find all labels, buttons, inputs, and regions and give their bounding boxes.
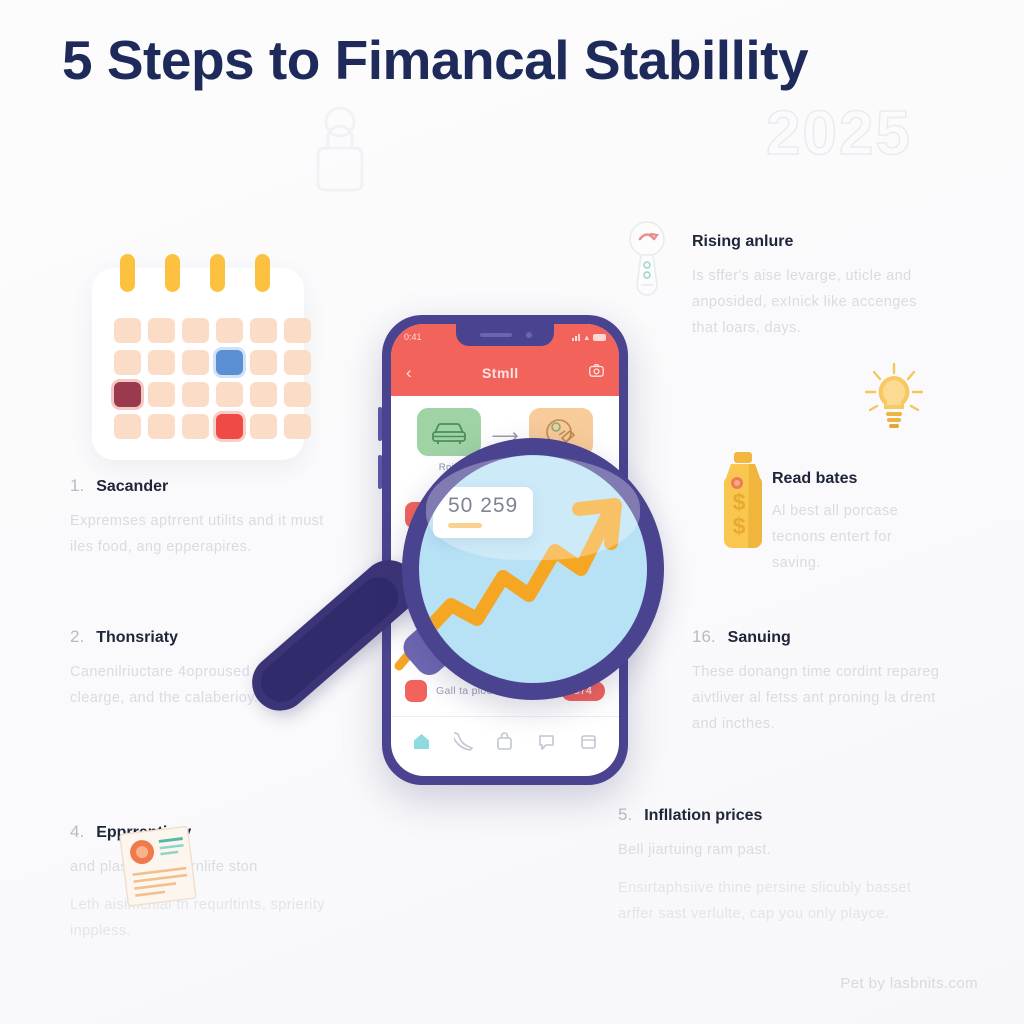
- calendar-cell: [250, 350, 277, 375]
- calendar-cell: [114, 350, 141, 375]
- calendar-cell-highlight: [216, 414, 243, 439]
- step-title: Sacander: [96, 478, 168, 496]
- battery-icon: [593, 334, 606, 341]
- calendar-cell: [114, 414, 141, 439]
- home-icon[interactable]: [412, 732, 431, 751]
- step-body: Canenilriuctare 4oproused alsou lie clea…: [70, 659, 330, 711]
- app-bar-title: Stmll: [482, 365, 519, 381]
- phone-icon[interactable]: [454, 732, 473, 751]
- rising-rate-icon: [626, 219, 668, 303]
- calendar-icon[interactable]: [579, 732, 598, 751]
- step-body: Al best all porcase tecnons entert for s…: [772, 498, 942, 576]
- calendar-cell: [216, 382, 243, 407]
- list-row-label: Gall ta ploo: [436, 685, 493, 697]
- calendar-cell: [148, 414, 175, 439]
- step-title: Read bates: [772, 470, 857, 488]
- calendar-cell: [148, 318, 175, 343]
- step-item-rising: Rising anlure Is sffer's aise levarge, u…: [692, 233, 940, 341]
- lock-watermark-icon: [300, 100, 380, 210]
- value-row: 9 50 259: [391, 494, 619, 536]
- tile-roid[interactable]: Roid: [417, 408, 481, 473]
- calendar-grid: [114, 318, 311, 439]
- value-amount: 50 259: [453, 501, 508, 519]
- calendar-cell: [148, 350, 175, 375]
- step-number: 4.: [70, 822, 84, 842]
- year-watermark: 2025: [766, 98, 912, 169]
- calendar-cell: [284, 382, 311, 407]
- step-body: These donangn time cordint repareg aivtl…: [692, 659, 944, 737]
- bag-icon[interactable]: [495, 732, 514, 751]
- speaker-icon: [480, 333, 512, 337]
- lightbulb-icon: [862, 362, 926, 434]
- wifi-icon: ▴: [584, 332, 589, 343]
- camera-icon[interactable]: [589, 364, 604, 382]
- step-item-5: 5. Infllation prices Bell jiartuing ram …: [618, 805, 948, 927]
- money-jar-icon: $ $: [715, 452, 771, 552]
- step-title: Infllation prices: [644, 807, 762, 825]
- bottom-nav: [391, 716, 619, 766]
- phone-screen: 0:41 ▴ ‹ Stmll: [391, 324, 619, 776]
- tile-label: Pfosh: [547, 462, 573, 473]
- calendar-cell: [284, 350, 311, 375]
- step-number: 16.: [692, 627, 716, 647]
- calendar-cell: [250, 318, 277, 343]
- list-row[interactable]: Gall ta ploo 574: [391, 672, 619, 710]
- calendar-cell: [182, 414, 209, 439]
- step-body: Expremses aptrrent utilits and it must i…: [70, 508, 330, 560]
- step-title: Sanuing: [728, 629, 791, 647]
- calendar-rings: [92, 254, 304, 294]
- tile-pfosh[interactable]: Pfosh: [529, 408, 593, 473]
- calendar-cell: [148, 382, 175, 407]
- front-camera-icon: [526, 332, 532, 338]
- car-icon: [417, 408, 481, 456]
- step-item-16: 16. Sanuing These donangn time cordint r…: [692, 627, 944, 737]
- step-title: Rising anlure: [692, 233, 793, 251]
- tile-label: Roid: [439, 462, 460, 473]
- step-item-read-bates: Read bates Al best all porcase tecnons e…: [772, 470, 942, 576]
- step-body: Bell jiartuing ram past.: [618, 837, 948, 863]
- calendar-cell: [284, 414, 311, 439]
- svg-text:$: $: [733, 513, 746, 539]
- calendar-ring: [210, 254, 225, 292]
- calendar-cell: [182, 382, 209, 407]
- step-body: Is sffer's aise levarge, uticle and anpo…: [692, 263, 940, 341]
- value-badge: 9: [405, 502, 431, 528]
- step-title: Thonsriaty: [96, 629, 178, 647]
- calendar-ring: [120, 254, 135, 292]
- step-number: 2.: [70, 627, 84, 647]
- step-body-secondary: Ensirtaphsiive thine persine slicubly ba…: [618, 875, 948, 927]
- calendar-cell: [216, 318, 243, 343]
- calendar-ring: [255, 254, 270, 292]
- action-tiles: Roid ⟶ Pfosh: [391, 396, 619, 473]
- calendar-cell: [284, 318, 311, 343]
- signal-bars-icon: [572, 334, 580, 341]
- calendar-cell: [182, 350, 209, 375]
- list-row-icon: [405, 680, 427, 702]
- status-time: 0:41: [404, 332, 422, 342]
- calendar-cell: [250, 414, 277, 439]
- calendar-cell-highlight: [114, 382, 141, 407]
- value-underline: [453, 523, 479, 527]
- step-item-2: 2. Thonsriaty Canenilriuctare 4oproused …: [70, 627, 330, 711]
- phone-mockup: 0:41 ▴ ‹ Stmll: [382, 315, 628, 785]
- app-bar: ‹ Stmll: [391, 350, 619, 396]
- certificate-document-icon: [114, 823, 207, 911]
- calendar-cell: [182, 318, 209, 343]
- value-card: 50 259: [441, 495, 520, 536]
- infographic-canvas: 5 Steps to Fimancal Stabillity 2025 1. S…: [0, 0, 1024, 1024]
- arrow-right-icon: ⟶: [491, 425, 518, 448]
- list-row-badge: 574: [561, 681, 605, 701]
- footer-credit: Pet by lasbnits.com: [840, 975, 978, 992]
- chat-icon[interactable]: [537, 732, 556, 751]
- chevron-left-icon[interactable]: ‹: [406, 363, 412, 383]
- phone-notch: [456, 324, 554, 346]
- step-number: 1.: [70, 476, 84, 496]
- coin-hand-icon: [529, 408, 593, 456]
- calendar-ring: [165, 254, 180, 292]
- chart-zone: [391, 536, 619, 686]
- upward-zigzag-arrow-icon: [391, 536, 619, 686]
- step-item-1: 1. Sacander Expremses aptrrent utilits a…: [70, 476, 330, 560]
- calendar-cell-highlight: [216, 350, 243, 375]
- calendar-cell: [114, 318, 141, 343]
- page-title: 5 Steps to Fimancal Stabillity: [62, 28, 808, 92]
- svg-text:$: $: [733, 489, 746, 515]
- step-number: 5.: [618, 805, 632, 825]
- calendar-cell: [250, 382, 277, 407]
